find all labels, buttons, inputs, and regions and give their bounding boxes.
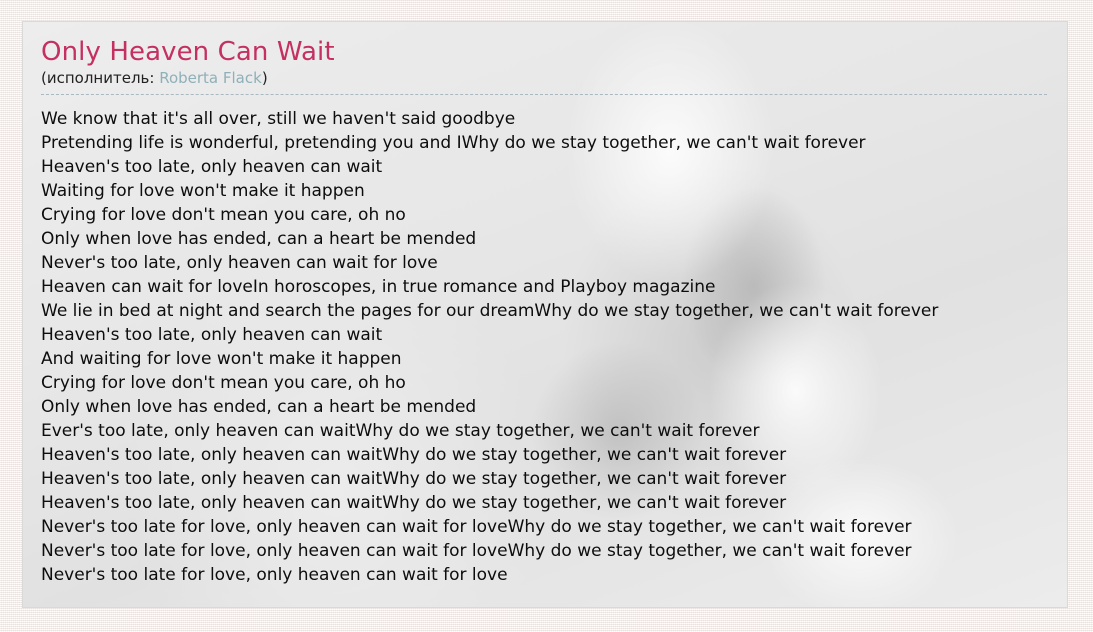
lyric-line: Heaven's too late, only heaven can wait (41, 323, 1047, 347)
lyric-line: Heaven's too late, only heaven can waitW… (41, 443, 1047, 467)
lyric-line: Heaven can wait for loveIn horoscopes, i… (41, 275, 1047, 299)
lyric-line: Never's too late for love, only heaven c… (41, 563, 1047, 587)
artist-line: (исполнитель: Roberta Flack) (41, 69, 1047, 95)
lyric-line: We lie in bed at night and search the pa… (41, 299, 1047, 323)
lyric-line: Crying for love don't mean you care, oh … (41, 371, 1047, 395)
lyric-line: We know that it's all over, still we hav… (41, 107, 1047, 131)
lyric-line: Crying for love don't mean you care, oh … (41, 203, 1047, 227)
artist-link[interactable]: Roberta Flack (159, 69, 262, 87)
lyric-line: Never's too late for love, only heaven c… (41, 539, 1047, 563)
lyric-line: Heaven's too late, only heaven can waitW… (41, 491, 1047, 515)
lyrics-card: Only Heaven Can Wait (исполнитель: Rober… (22, 21, 1068, 608)
artist-prefix-label: (исполнитель: (41, 69, 159, 87)
lyric-line: Pretending life is wonderful, pretending… (41, 131, 1047, 155)
lyric-line: And waiting for love won't make it happe… (41, 347, 1047, 371)
lyric-line: Ever's too late, only heaven can waitWhy… (41, 419, 1047, 443)
lyric-line: Heaven's too late, only heaven can waitW… (41, 467, 1047, 491)
lyrics-text-block: We know that it's all over, still we hav… (41, 107, 1047, 587)
lyric-line: Waiting for love won't make it happen (41, 179, 1047, 203)
lyric-line: Never's too late, only heaven can wait f… (41, 251, 1047, 275)
lyric-line: Only when love has ended, can a heart be… (41, 395, 1047, 419)
page-title: Only Heaven Can Wait (41, 37, 1047, 67)
card-content: Only Heaven Can Wait (исполнитель: Rober… (23, 22, 1067, 587)
lyric-line: Only when love has ended, can a heart be… (41, 227, 1047, 251)
artist-suffix-label: ) (262, 69, 268, 87)
lyric-line: Heaven's too late, only heaven can wait (41, 155, 1047, 179)
lyric-line: Never's too late for love, only heaven c… (41, 515, 1047, 539)
